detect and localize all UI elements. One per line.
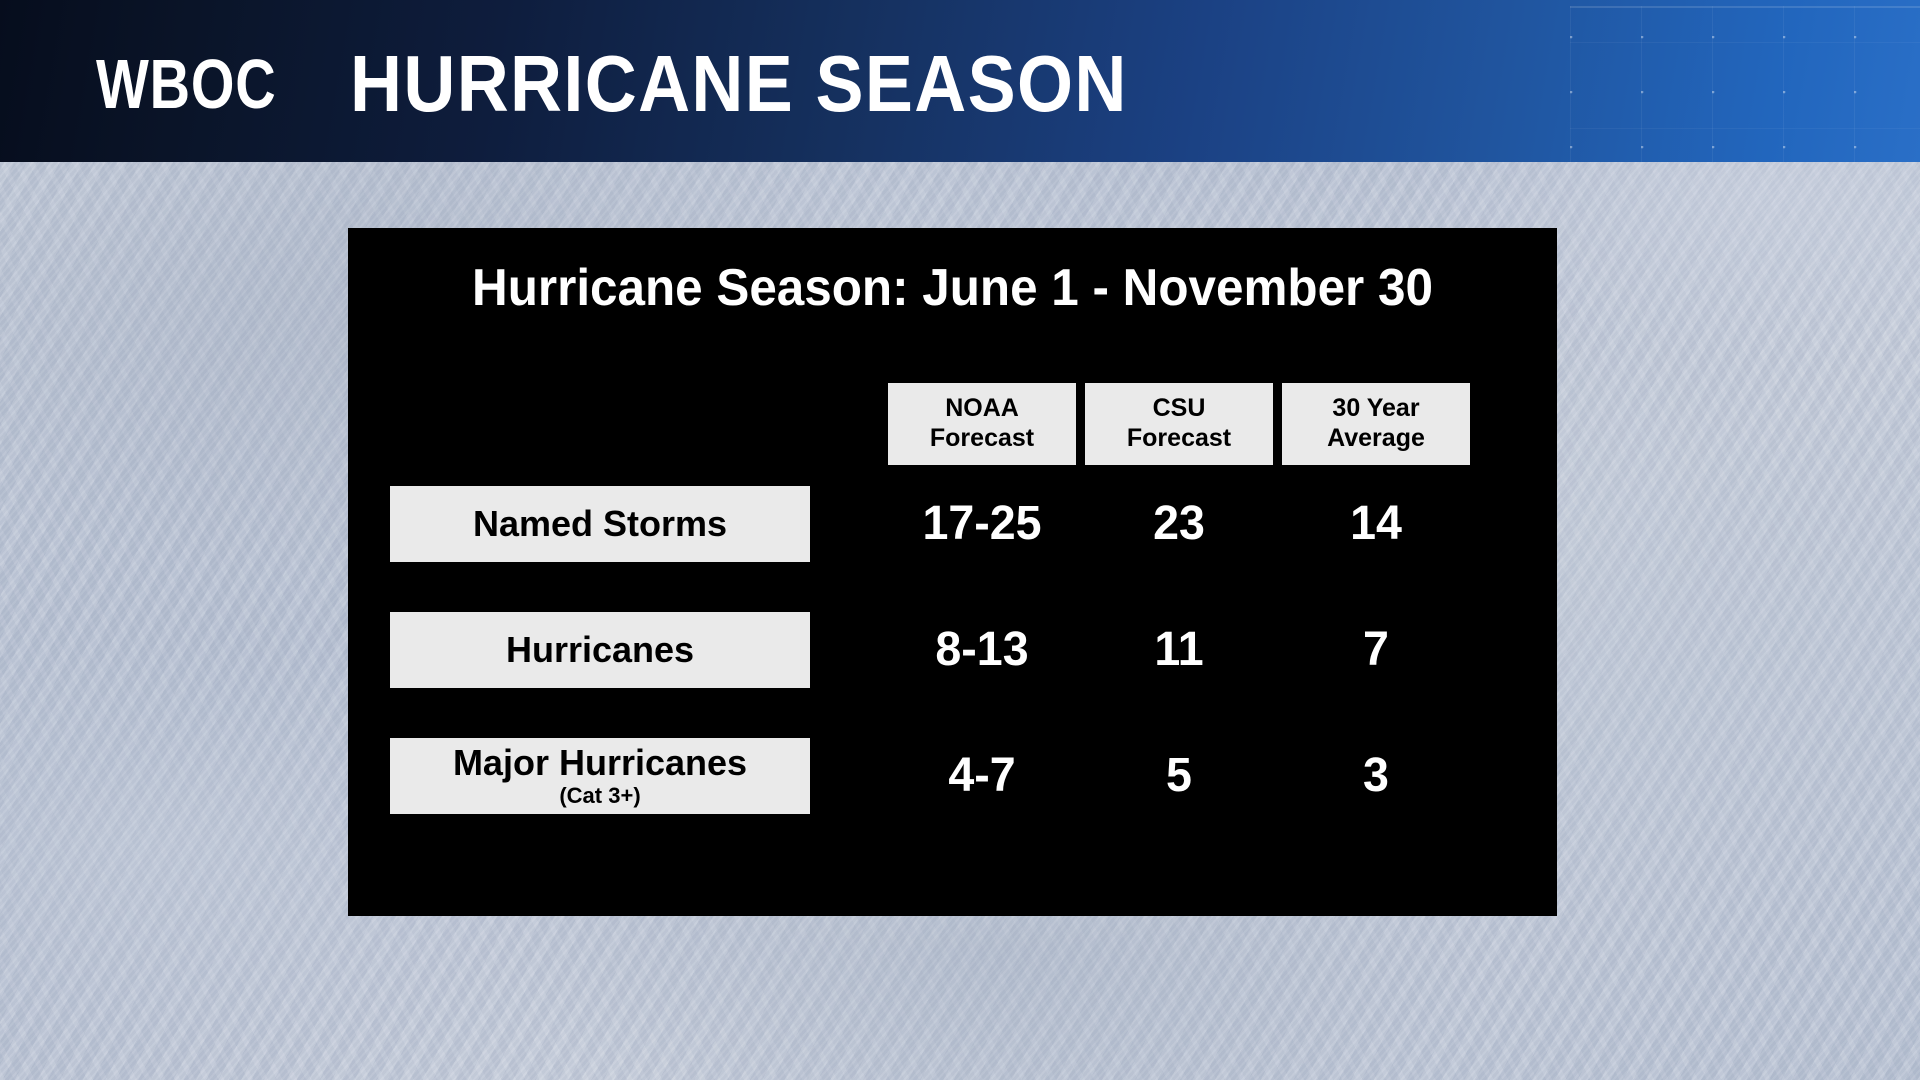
value-named-storms-csu: 23 xyxy=(1088,500,1270,548)
table-row: Hurricanes 8-13 11 7 xyxy=(348,604,1557,730)
banner-title: HURRICANE SEASON xyxy=(350,44,1128,124)
column-header-csu-line1: CSU xyxy=(1095,394,1263,424)
value-major-hurricanes-average: 3 xyxy=(1285,752,1467,800)
hurricane-season-graphic: WBOC HURRICANE SEASON Hurricane Season: … xyxy=(0,0,1920,1080)
row-label-text: Major Hurricanes xyxy=(453,745,747,781)
column-header-row: NOAA Forecast CSU Forecast 30 Year Avera… xyxy=(888,383,1470,465)
row-values: 17-25 23 14 xyxy=(888,486,1470,562)
forecast-panel: Hurricane Season: June 1 - November 30 N… xyxy=(348,228,1557,916)
column-header-avg-line2: Average xyxy=(1292,424,1460,454)
table-row: Named Storms 17-25 23 14 xyxy=(348,478,1557,604)
value-named-storms-average: 14 xyxy=(1285,500,1467,548)
value-hurricanes-csu: 11 xyxy=(1088,626,1270,674)
row-label-text: Named Storms xyxy=(473,506,727,542)
value-major-hurricanes-csu: 5 xyxy=(1088,752,1270,800)
row-label-major-hurricanes: Major Hurricanes (Cat 3+) xyxy=(390,738,810,814)
column-header-csu: CSU Forecast xyxy=(1085,383,1273,465)
data-rows: Named Storms 17-25 23 14 Hurricanes 8-13… xyxy=(348,478,1557,856)
column-header-noaa-line2: Forecast xyxy=(898,424,1066,454)
column-header-30-year-average: 30 Year Average xyxy=(1282,383,1470,465)
row-label-text: Hurricanes xyxy=(506,632,694,668)
column-header-avg-line1: 30 Year xyxy=(1292,394,1460,424)
wboc-logo: WBOC xyxy=(96,49,277,119)
header-banner: WBOC HURRICANE SEASON xyxy=(0,0,1920,162)
row-values: 4-7 5 3 xyxy=(888,738,1470,814)
column-header-csu-line2: Forecast xyxy=(1095,424,1263,454)
value-major-hurricanes-noaa: 4-7 xyxy=(891,752,1073,800)
row-values: 8-13 11 7 xyxy=(888,612,1470,688)
value-hurricanes-average: 7 xyxy=(1285,626,1467,674)
column-header-noaa: NOAA Forecast xyxy=(888,383,1076,465)
panel-title: Hurricane Season: June 1 - November 30 xyxy=(378,258,1527,318)
row-label-named-storms: Named Storms xyxy=(390,486,810,562)
banner-content: WBOC HURRICANE SEASON xyxy=(0,0,1920,162)
table-row: Major Hurricanes (Cat 3+) 4-7 5 3 xyxy=(348,730,1557,856)
value-named-storms-noaa: 17-25 xyxy=(891,500,1073,548)
value-hurricanes-noaa: 8-13 xyxy=(891,626,1073,674)
row-label-hurricanes: Hurricanes xyxy=(390,612,810,688)
row-sublabel-text: (Cat 3+) xyxy=(559,784,640,808)
column-header-noaa-line1: NOAA xyxy=(898,394,1066,424)
